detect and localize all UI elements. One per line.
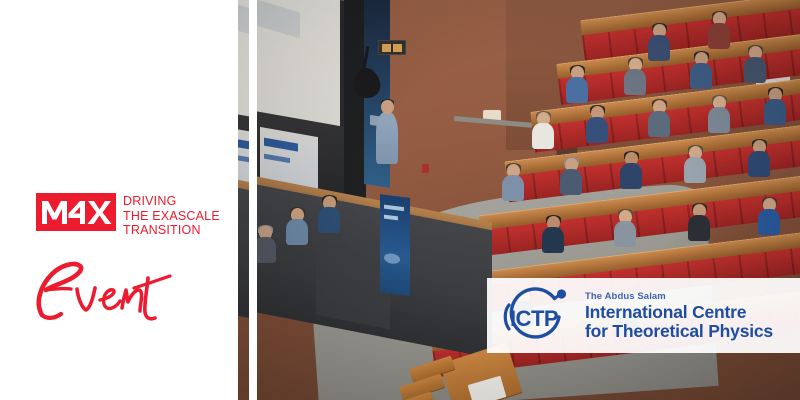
svg-text:ICTP: ICTP — [510, 306, 558, 331]
ictp-line-1: International Centre — [585, 303, 773, 322]
ictp-wordmark: The Abdus Salam International Centre for… — [585, 291, 773, 341]
photo-sliver — [238, 0, 249, 400]
event-banner: DRIVING THE EXASCALE TRANSITION — [0, 0, 800, 400]
event-script-word — [30, 258, 180, 324]
ictp-line-top: The Abdus Salam — [585, 291, 773, 302]
ictp-logo: ICTP The Abdus Salam International Centr… — [487, 278, 800, 353]
ictp-logomark-icon: ICTP — [501, 287, 575, 345]
max-logomark-icon — [36, 193, 116, 231]
panel-gap — [249, 0, 257, 400]
ictp-line-2: for Theoretical Physics — [585, 322, 773, 341]
max-tagline: DRIVING THE EXASCALE TRANSITION — [123, 193, 220, 238]
max-logo: DRIVING THE EXASCALE TRANSITION — [36, 193, 220, 238]
